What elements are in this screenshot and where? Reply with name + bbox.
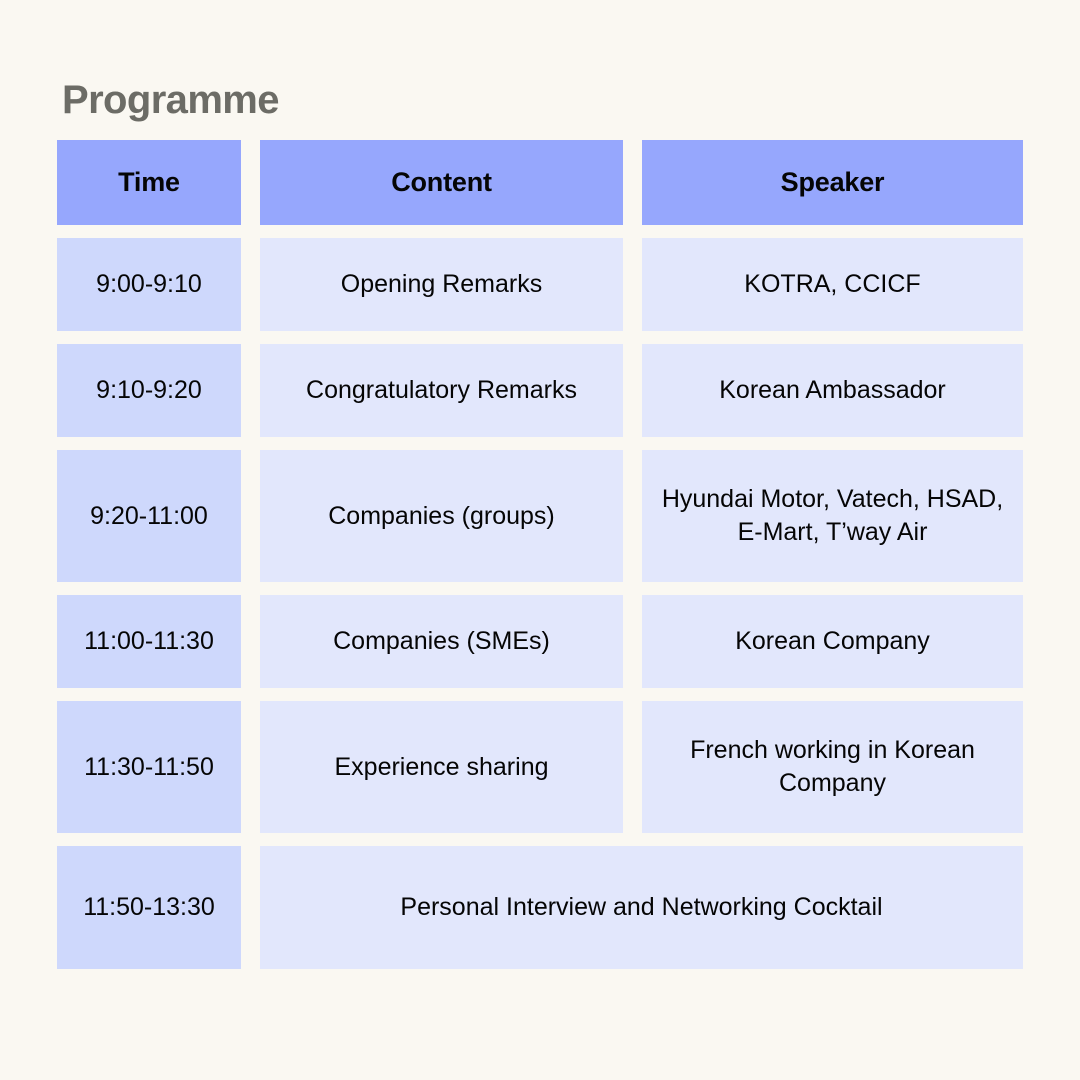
page-title: Programme [62, 80, 279, 120]
table-row: 11:00-11:30 Companies (SMEs) Korean Comp… [57, 595, 1023, 688]
programme-page: Programme Time Content Speaker 9:00-9:10… [0, 0, 1080, 1080]
cell-content: Congratulatory Remarks [260, 344, 623, 437]
table-row: 11:50-13:30 Personal Interview and Netwo… [57, 846, 1023, 969]
cell-speaker: Korean Ambassador [642, 344, 1023, 437]
cell-speaker: Hyundai Motor, Vatech, HSAD, E-Mart, T’w… [642, 450, 1023, 582]
cell-content: Experience sharing [260, 701, 623, 833]
cell-content: Companies (groups) [260, 450, 623, 582]
cell-time: 11:00-11:30 [57, 595, 241, 688]
cell-content-merged: Personal Interview and Networking Cockta… [260, 846, 1023, 969]
cell-time: 9:20-11:00 [57, 450, 241, 582]
column-header-time: Time [57, 140, 241, 225]
cell-time: 9:10-9:20 [57, 344, 241, 437]
cell-time: 11:30-11:50 [57, 701, 241, 833]
table-row: 9:20-11:00 Companies (groups) Hyundai Mo… [57, 450, 1023, 582]
column-header-content: Content [260, 140, 623, 225]
schedule-table: Time Content Speaker 9:00-9:10 Opening R… [57, 140, 1023, 969]
cell-speaker: Korean Company [642, 595, 1023, 688]
column-header-speaker: Speaker [642, 140, 1023, 225]
cell-time: 9:00-9:10 [57, 238, 241, 331]
cell-time: 11:50-13:30 [57, 846, 241, 969]
cell-content: Opening Remarks [260, 238, 623, 331]
cell-content: Companies (SMEs) [260, 595, 623, 688]
table-row: 9:10-9:20 Congratulatory Remarks Korean … [57, 344, 1023, 437]
table-row: 9:00-9:10 Opening Remarks KOTRA, CCICF [57, 238, 1023, 331]
table-row: 11:30-11:50 Experience sharing French wo… [57, 701, 1023, 833]
table-header-row: Time Content Speaker [57, 140, 1023, 225]
cell-speaker: French working in Korean Company [642, 701, 1023, 833]
cell-speaker: KOTRA, CCICF [642, 238, 1023, 331]
